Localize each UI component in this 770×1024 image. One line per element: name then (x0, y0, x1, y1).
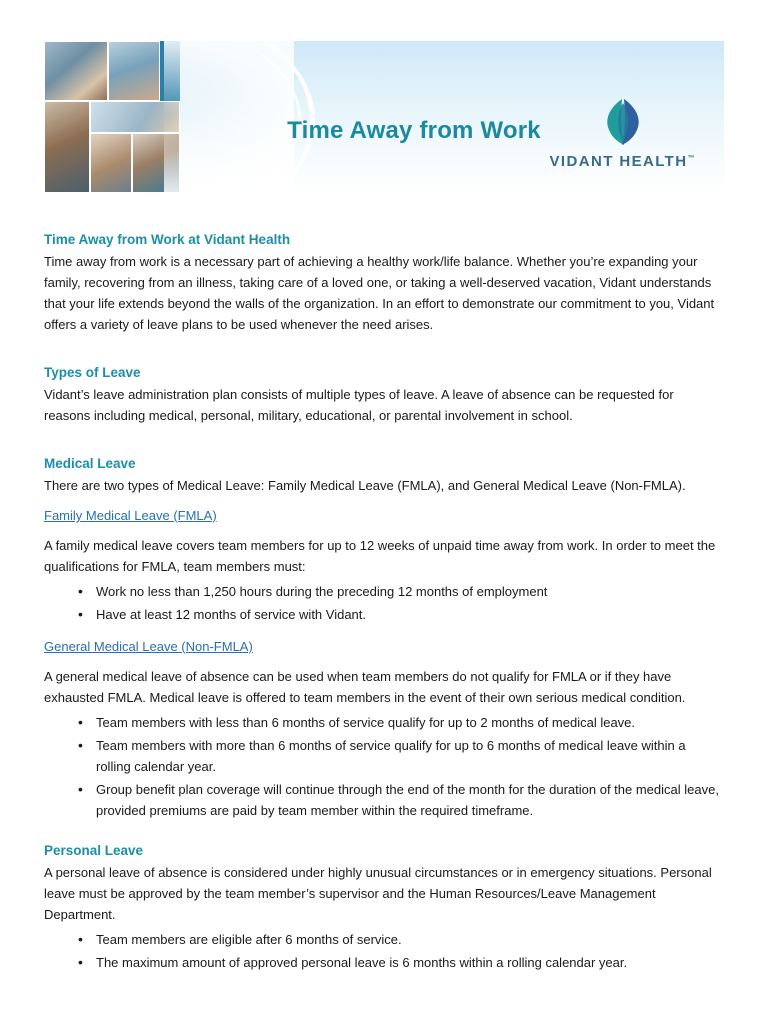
collage-photo-5 (90, 133, 132, 193)
subheading-fmla: Family Medical Leave (FMLA) (44, 508, 722, 523)
vidant-health-logo: VIDANT HEALTH™ (542, 97, 702, 187)
list-item: Have at least 12 months of service with … (96, 604, 722, 625)
collage-photo-4 (44, 101, 90, 193)
spacer (44, 823, 722, 843)
logo-wordmark: VIDANT HEALTH™ (542, 153, 702, 170)
logo-wordmark-text: VIDANT HEALTH (550, 153, 688, 170)
list-item: Work no less than 1,250 hours during the… (96, 581, 722, 602)
bullet-list-fmla: Work no less than 1,250 hours during the… (44, 581, 722, 625)
collage-photo-1 (44, 41, 108, 101)
heading-time-away: Time Away from Work at Vidant Health (44, 232, 722, 247)
bullet-list-general-medical: Team members with less than 6 months of … (44, 712, 722, 821)
vidant-leaf-icon (598, 97, 648, 147)
list-item: Team members with more than 6 months of … (96, 735, 722, 777)
paragraph-personal-leave: A personal leave of absence is considere… (44, 862, 722, 925)
document-body: Time Away from Work at Vidant Health Tim… (44, 232, 722, 975)
spacer (44, 426, 722, 456)
spacer (44, 627, 722, 639)
spacer (44, 654, 722, 666)
list-item: Team members are eligible after 6 months… (96, 929, 722, 950)
paragraph-time-away: Time away from work is a necessary part … (44, 251, 722, 335)
heading-medical-leave: Medical Leave (44, 456, 722, 471)
spacer (44, 335, 722, 365)
spacer (44, 523, 722, 535)
list-item: The maximum amount of approved personal … (96, 952, 722, 973)
spacer (44, 496, 722, 508)
document-page: Time Away from Work VIDANT HEALTH™ Time … (0, 0, 770, 1024)
list-item: Group benefit plan coverage will continu… (96, 779, 722, 821)
paragraph-medical-leave: There are two types of Medical Leave: Fa… (44, 475, 722, 496)
list-item: Team members with less than 6 months of … (96, 712, 722, 733)
bullet-list-personal-leave: Team members are eligible after 6 months… (44, 929, 722, 973)
header-banner: Time Away from Work VIDANT HEALTH™ (44, 41, 724, 193)
paragraph-fmla: A family medical leave covers team membe… (44, 535, 722, 577)
heading-personal-leave: Personal Leave (44, 843, 722, 858)
paragraph-types-of-leave: Vidant’s leave administration plan consi… (44, 384, 722, 426)
heading-types-of-leave: Types of Leave (44, 365, 722, 380)
paragraph-general-medical: A general medical leave of absence can b… (44, 666, 722, 708)
logo-trademark: ™ (687, 155, 694, 162)
subheading-general-medical: General Medical Leave (Non-FMLA) (44, 639, 722, 654)
